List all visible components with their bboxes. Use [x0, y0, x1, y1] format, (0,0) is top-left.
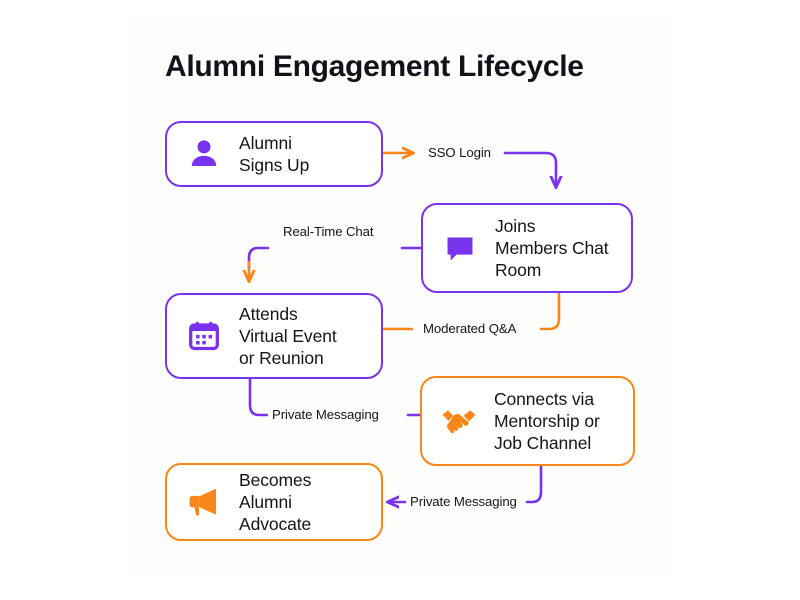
connector-layer — [0, 0, 800, 600]
node-label: Joins Members Chat Room — [495, 215, 609, 281]
node-connects-via-mentorship[interactable]: Connects via Mentorship or Job Channel — [420, 376, 635, 466]
edge-label-sso-login: SSO Login — [424, 145, 495, 160]
calendar-icon — [183, 315, 225, 357]
edge-label-private-messaging-2: Private Messaging — [406, 494, 521, 509]
node-joins-members-chat-room[interactable]: Joins Members Chat Room — [421, 203, 633, 293]
person-icon — [183, 133, 225, 175]
node-attends-virtual-event[interactable]: Attends Virtual Event or Reunion — [165, 293, 383, 379]
node-label: Becomes Alumni Advocate — [239, 469, 311, 535]
connector-real-time-chat — [249, 248, 421, 281]
edge-label-real-time-chat: Real-Time Chat — [279, 224, 377, 239]
diagram-stage: Alumni Engagement Lifecycle — [0, 0, 800, 600]
node-label: Attends Virtual Event or Reunion — [239, 303, 337, 369]
edge-label-private-messaging-1: Private Messaging — [268, 407, 383, 422]
node-alumni-signs-up[interactable]: Alumni Signs Up — [165, 121, 383, 187]
megaphone-icon — [183, 481, 225, 523]
chat-bubble-icon — [439, 227, 481, 269]
edge-label-moderated-qa: Moderated Q&A — [419, 321, 520, 336]
handshake-icon — [438, 400, 480, 442]
node-becomes-alumni-advocate[interactable]: Becomes Alumni Advocate — [165, 463, 383, 541]
node-label: Alumni Signs Up — [239, 132, 309, 176]
node-label: Connects via Mentorship or Job Channel — [494, 388, 600, 454]
